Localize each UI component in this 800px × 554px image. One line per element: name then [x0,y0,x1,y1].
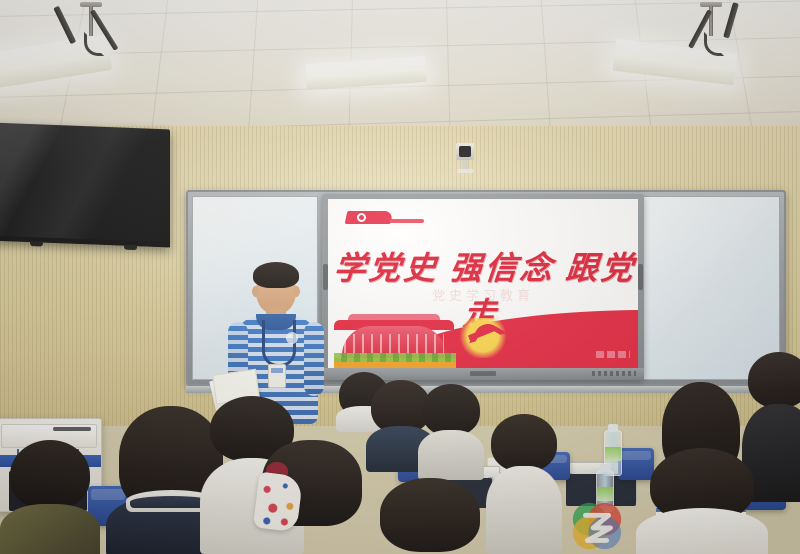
audience-member [370,478,490,554]
tiananmen-gate-icon [334,306,456,368]
audience-member [0,440,100,554]
classroom-photo: 学党史 强信念 跟党走 党史学习教育 [0,0,800,554]
presentation-slide: 学党史 强信念 跟党走 党史学习教育 [328,199,638,368]
interactive-smart-board[interactable]: 学党史 强信念 跟党走 党史学习教育 [322,194,644,380]
wall-mounted-camera [456,143,474,173]
audience-member [636,448,768,554]
ceiling [0,0,800,132]
party-emblem-icon [454,318,512,360]
red-flag-icon [346,209,424,231]
board-side-port-right [638,264,643,290]
board-screen[interactable]: 学党史 强信念 跟党走 党史学习教育 [328,199,638,368]
news-outlet-logo [568,496,626,554]
audience-member [486,414,562,554]
slide-bottom-graphics [328,302,638,368]
audience-member [418,384,484,480]
slide-corner-marks [596,351,630,358]
id-badge [268,364,286,388]
wall-mounted-television [0,123,170,248]
